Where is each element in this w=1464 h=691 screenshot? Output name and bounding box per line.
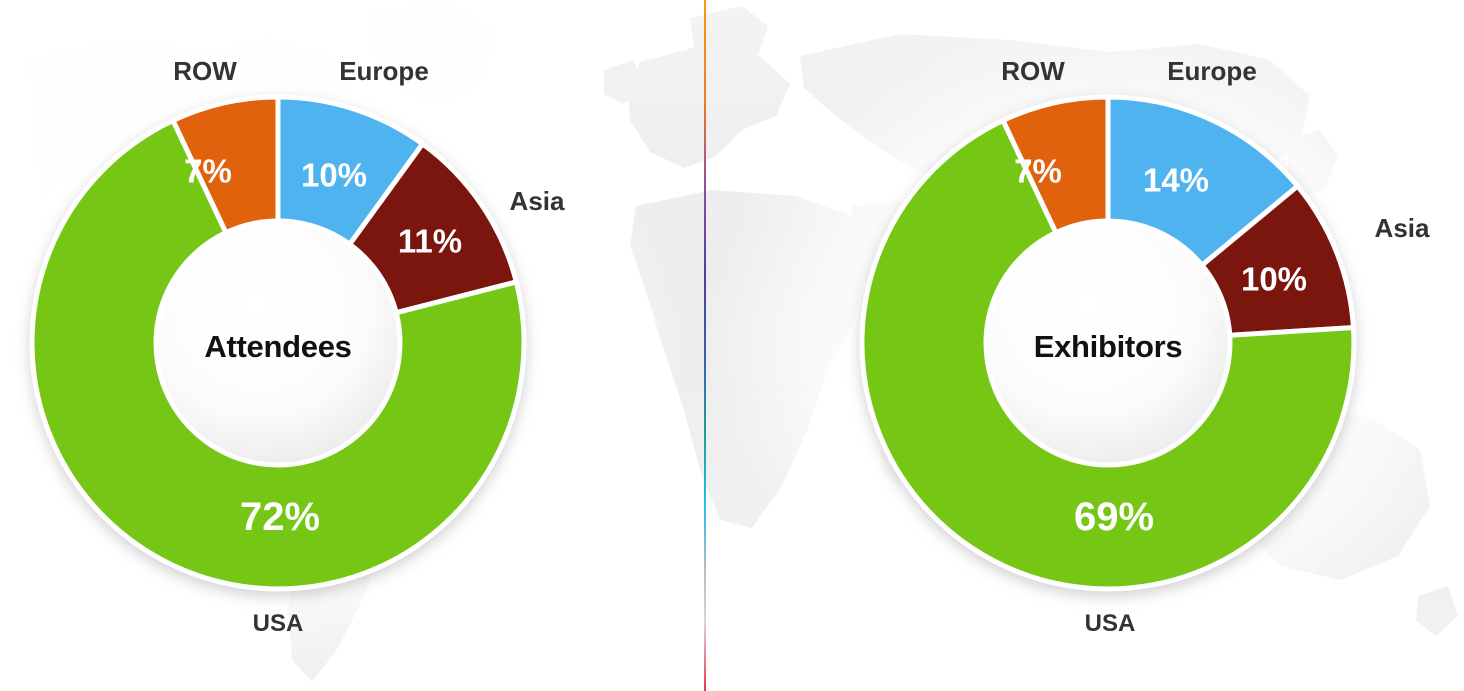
category-label-usa: USA [253,612,304,636]
donut-center-title-exhibitors: Exhibitors [858,329,1358,365]
donut-exhibitors: Exhibitors 14% 7% 10% 69% [858,93,1358,593]
donut-center-title-attendees: Attendees [28,329,528,365]
slice-value-row: 7% [1014,155,1062,188]
category-label-europe: Europe [339,58,429,84]
slice-value-usa: 69% [1074,497,1154,537]
slice-value-europe: 10% [301,159,367,192]
category-label-asia: Asia [510,188,565,214]
slice-value-asia: 11% [398,225,462,258]
slice-value-europe: 14% [1143,164,1209,197]
slice-value-row: 7% [184,155,232,188]
category-label-usa: USA [1085,612,1136,636]
chart-panel-exhibitors: Exhibitors 14% 7% 10% 69% ROW Europe Asi… [706,0,1464,691]
category-label-asia: Asia [1375,215,1430,241]
donut-attendees: Attendees 10% 7% 11% 72% [28,93,528,593]
chart-canvas: Attendees 10% 7% 11% 72% ROW Europe Asia… [0,0,1464,691]
slice-value-usa: 72% [240,497,320,537]
slice-value-asia: 10% [1241,263,1307,296]
chart-panel-attendees: Attendees 10% 7% 11% 72% ROW Europe Asia… [0,0,704,691]
category-label-row: ROW [173,58,237,84]
category-label-europe: Europe [1167,58,1257,84]
category-label-row: ROW [1001,58,1065,84]
